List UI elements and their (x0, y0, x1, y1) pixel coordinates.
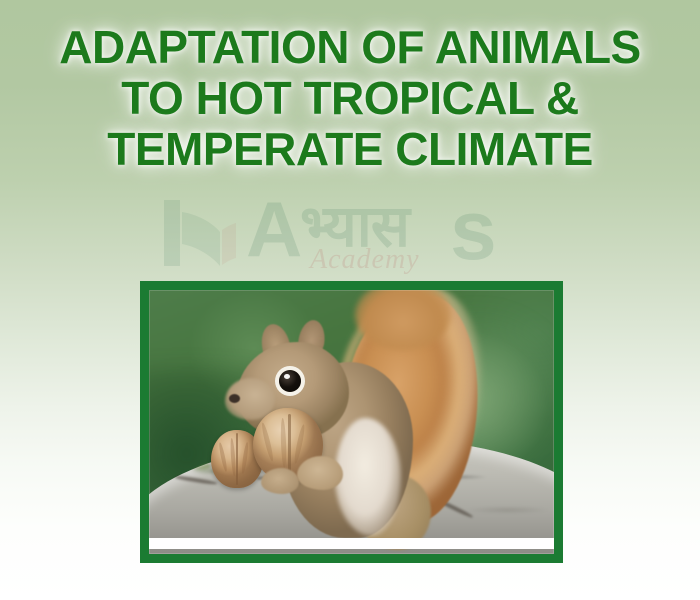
title-line-1: ADAPTATION OF ANIMALS (0, 22, 700, 73)
watermark-devanagari: भ्यास (300, 196, 409, 258)
watermark-academy-script: Academy (310, 244, 420, 276)
slide-canvas: A भ्यास s Academy TM ADAPTATION OF ANIMA… (0, 0, 700, 600)
squirrel (149, 290, 554, 554)
watermark-letter-s: s (450, 188, 497, 272)
page-title: ADAPTATION OF ANIMALS TO HOT TROPICAL & … (0, 22, 700, 175)
squirrel-belly (335, 418, 401, 536)
squirrel-paw-front (297, 456, 343, 490)
title-line-2: TO HOT TROPICAL & (0, 73, 700, 124)
watermark-letter-a: A (246, 190, 300, 268)
title-line-3: TEMPERATE CLIMATE (0, 124, 700, 175)
squirrel-paw-lower (261, 468, 299, 494)
squirrel-nose (229, 394, 240, 403)
photo-frame (140, 281, 563, 563)
photo-white-strip (149, 538, 554, 549)
book-icon (160, 196, 238, 270)
squirrel-photo (149, 290, 554, 554)
watermark-logo: A भ्यास s Academy TM (160, 190, 520, 286)
squirrel-eye (279, 370, 301, 392)
